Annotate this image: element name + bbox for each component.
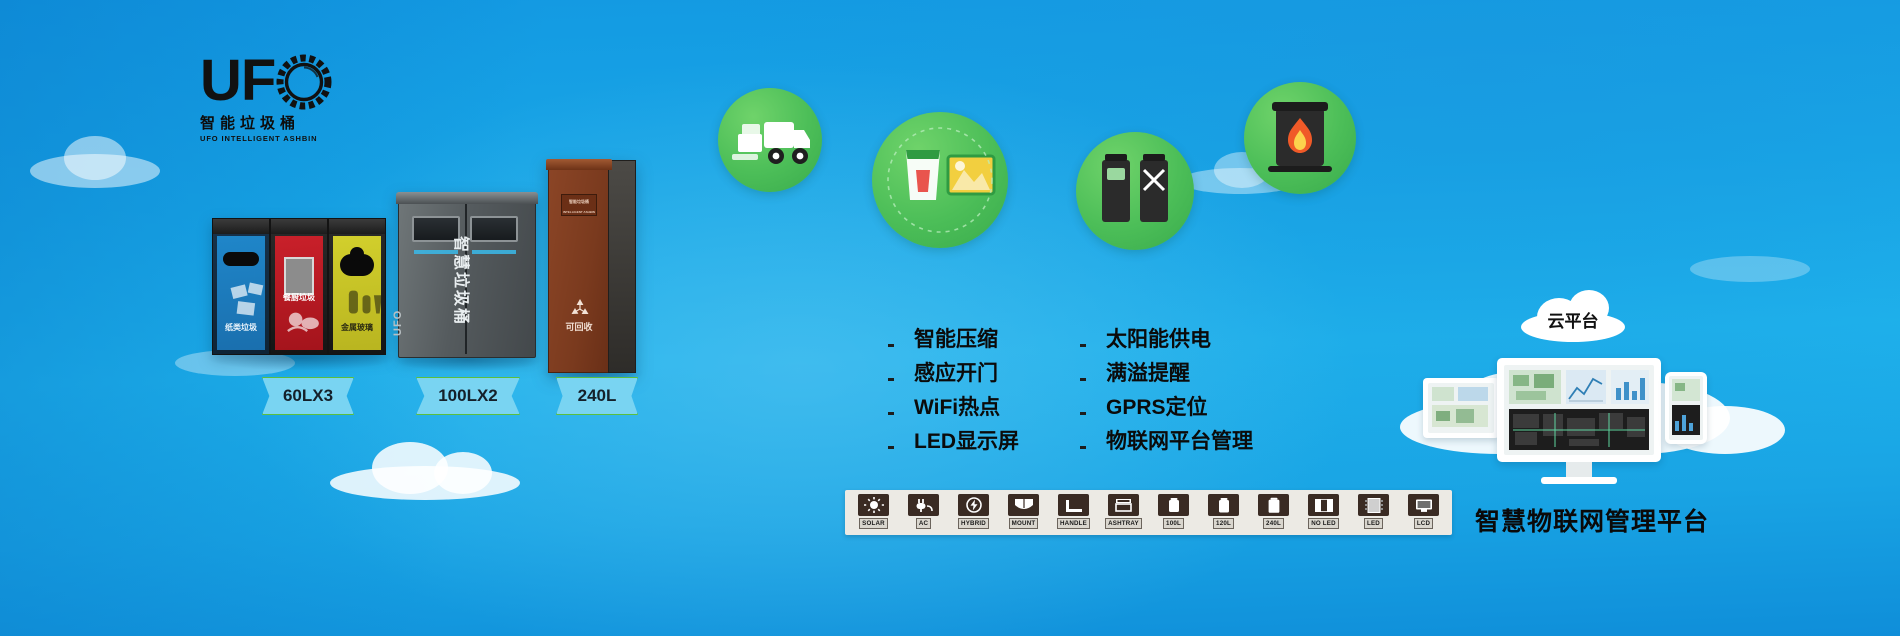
banner-canvas: UF 智能垃圾桶 UFO INTELLIGENT ASHBIN 纸类垃圾 <box>0 0 1900 636</box>
line-chart-icon <box>1566 370 1606 404</box>
capacity-tag-label: 60LX3 <box>283 387 333 405</box>
tablet-screen <box>1428 383 1494 433</box>
capacity-tag-100lx2: 100LX2 <box>416 377 520 415</box>
feature-circle-fire-alarm <box>1244 82 1356 194</box>
handle-icon <box>1058 494 1089 516</box>
metal-glass-waste-icon <box>342 277 388 323</box>
bin-slot <box>340 254 375 276</box>
option-label: SOLAR <box>859 518 888 529</box>
option-100l[interactable]: 100L <box>1151 494 1196 531</box>
logo-chinese-title: 智能垃圾桶 <box>200 115 330 132</box>
option-label: 120L <box>1213 518 1234 529</box>
ufo-logo: UF 智能垃圾桶 UFO INTELLIGENT ASHBIN <box>200 52 330 152</box>
bin-100l-icon <box>1158 494 1189 516</box>
desktop-monitor[interactable] <box>1497 358 1661 462</box>
option-hybrid[interactable]: HYBRID <box>951 494 996 531</box>
kitchen-waste-icon <box>284 302 323 341</box>
feature-item: WiFi热点 <box>880 390 1019 424</box>
product-three-compartment-bin[interactable]: 纸类垃圾 餐厨垃圾 <box>212 218 387 355</box>
cloud-platform-label: 云平台 <box>1521 312 1625 331</box>
option-label: MOUNT <box>1009 518 1039 529</box>
capacity-tag-240l: 240L <box>556 377 638 415</box>
option-ashtray[interactable]: ASHTRAY <box>1101 494 1146 531</box>
dashed-orbit-icon <box>872 112 1008 248</box>
bin-accent-strip-right <box>472 250 516 254</box>
monitor-icon <box>880 366 901 381</box>
no-led-icon <box>1308 494 1339 516</box>
logo-english-subtitle: UFO INTELLIGENT ASHBIN <box>200 134 330 143</box>
option-label: NO LED <box>1308 518 1339 529</box>
platform-caption: 智慧物联网管理平台 <box>1447 508 1737 536</box>
tablet-device[interactable] <box>1423 378 1499 438</box>
ashtray-icon <box>1108 494 1139 516</box>
capacity-tag-label: 240L <box>578 387 617 405</box>
option-label: 240L <box>1263 518 1284 529</box>
gear-ring-icon <box>276 54 332 110</box>
option-led[interactable]: LED <box>1351 494 1396 531</box>
feature-item: 智能压缩 <box>880 322 1019 356</box>
bin-face: 餐厨垃圾 <box>275 236 323 350</box>
bin-label: 餐厨垃圾 <box>275 293 323 302</box>
wall-mount-icon <box>1008 494 1039 516</box>
feature-label: 物联网平台管理 <box>1106 430 1253 453</box>
bin-face: 金属玻璃 <box>333 236 381 350</box>
bin-label: 纸类垃圾 <box>217 323 265 332</box>
monitor-screen <box>1504 365 1654 455</box>
monitor-icon <box>1072 332 1093 347</box>
option-no-led[interactable]: NO LED <box>1301 494 1346 531</box>
bin-lid <box>396 192 538 204</box>
bin-window <box>284 257 315 296</box>
monitor-icon <box>1072 400 1093 415</box>
monitor-icon <box>880 400 901 415</box>
bin-compartment-kitchen: 餐厨垃圾 <box>270 218 328 355</box>
monitor-icon <box>1072 366 1093 381</box>
paper-waste-icon <box>226 277 272 323</box>
phone-bar-chart-icon <box>1672 405 1700 435</box>
option-label: HANDLE <box>1057 518 1090 529</box>
feature-circle-solar <box>872 112 1008 248</box>
bin-lid <box>329 219 385 234</box>
option-120l[interactable]: 120L <box>1201 494 1246 531</box>
compaction-truck-icon <box>718 88 822 192</box>
monitor-icon <box>880 332 901 347</box>
feature-label: 感应开门 <box>914 362 998 385</box>
iot-platform-illustration: 云平台 <box>1425 300 1755 490</box>
lcd-screen-icon <box>1408 494 1439 516</box>
option-lcd[interactable]: LCD <box>1401 494 1446 531</box>
option-240l[interactable]: 240L <box>1251 494 1296 531</box>
bin-window-right <box>470 216 518 242</box>
feature-column-right: 太阳能供电 满溢提醒 GPRS定位 物联网平台管理 <box>1072 322 1253 458</box>
smartphone-device[interactable] <box>1665 372 1707 444</box>
cloud-platform-bubble: 云平台 <box>1521 290 1625 342</box>
feature-label: 太阳能供电 <box>1106 328 1211 351</box>
product-brown-bin[interactable]: 智能垃圾桶 INTELLIGENT ASHBIN 可回收 <box>548 168 636 373</box>
bin-compartment-paper: 纸类垃圾 <box>212 218 270 355</box>
recycle-icon <box>568 296 592 320</box>
option-solar[interactable]: SOLAR <box>851 494 896 531</box>
bin-lid <box>271 219 327 234</box>
feature-item: 物联网平台管理 <box>1072 424 1253 458</box>
option-handle[interactable]: HANDLE <box>1051 494 1096 531</box>
capacity-tag-label: 100LX2 <box>438 387 498 405</box>
dark-map-panel-icon <box>1509 409 1649 450</box>
option-label: ASHTRAY <box>1105 518 1142 529</box>
bin-lid <box>546 159 612 170</box>
feature-label: GPRS定位 <box>1106 396 1208 419</box>
phone-screen <box>1669 376 1703 440</box>
monitor-icon <box>880 434 901 449</box>
option-label: HYBRID <box>958 518 989 529</box>
option-ac[interactable]: AC <box>901 494 946 531</box>
feature-label: 满溢提醒 <box>1106 362 1190 385</box>
bin-brand-mark: UFO <box>392 310 404 336</box>
hybrid-bolt-icon <box>958 494 989 516</box>
monitor-icon <box>1072 434 1093 449</box>
product-two-door-bin[interactable]: 智慧垃圾桶 UFO <box>398 198 536 358</box>
power-plug-icon <box>908 494 939 516</box>
bin-lid <box>213 219 269 234</box>
option-label: AC <box>916 518 931 529</box>
feature-item: LED显示屏 <box>880 424 1019 458</box>
bin-240l-icon <box>1258 494 1289 516</box>
feature-label: WiFi热点 <box>914 396 1000 419</box>
option-label: LCD <box>1414 518 1433 529</box>
option-label: LED <box>1364 518 1383 529</box>
sun-icon <box>858 494 889 516</box>
bin-slot <box>223 252 260 266</box>
feature-item: GPRS定位 <box>1072 390 1253 424</box>
feature-column-left: 智能压缩 感应开门 WiFi热点 LED显示屏 <box>880 322 1019 458</box>
option-mount[interactable]: MOUNT <box>1001 494 1046 531</box>
bin-screen-line-1: 智能垃圾桶 <box>562 195 596 205</box>
feature-item: 太阳能供电 <box>1072 322 1253 356</box>
twin-bin-sensor-icon <box>1076 132 1194 250</box>
bin-side-panel <box>608 160 636 373</box>
feature-label: 智能压缩 <box>914 328 998 351</box>
bin-screen-line-2: INTELLIGENT ASHBIN <box>562 205 596 215</box>
feature-item: 满溢提醒 <box>1072 356 1253 390</box>
feature-label: LED显示屏 <box>914 430 1019 453</box>
bin-120l-icon <box>1208 494 1239 516</box>
led-panel-icon <box>1358 494 1389 516</box>
bin-compartment-metal-glass: 金属玻璃 <box>328 218 386 355</box>
monitor-base <box>1541 477 1617 484</box>
fire-alarm-bin-icon <box>1244 82 1356 194</box>
bin-side-text: 智慧垃圾桶 <box>450 236 470 332</box>
bin-label: 金属玻璃 <box>333 323 381 332</box>
logo-wordmark: UF <box>200 52 275 110</box>
option-icon-strip: SOLAR AC HYBRID <box>845 490 1452 535</box>
feature-item: 感应开门 <box>880 356 1019 390</box>
bin-label: 可回收 <box>548 322 610 333</box>
bar-chart-icon <box>1611 370 1649 404</box>
option-label: 100L <box>1163 518 1184 529</box>
bin-face: 纸类垃圾 <box>217 236 265 350</box>
monitor-neck <box>1566 462 1592 478</box>
bin-display-screen: 智能垃圾桶 INTELLIGENT ASHBIN <box>561 194 597 216</box>
feature-circle-twin-bin <box>1076 132 1194 250</box>
feature-circle-compaction <box>718 88 822 192</box>
capacity-tag-60lx3: 60LX3 <box>262 377 354 415</box>
